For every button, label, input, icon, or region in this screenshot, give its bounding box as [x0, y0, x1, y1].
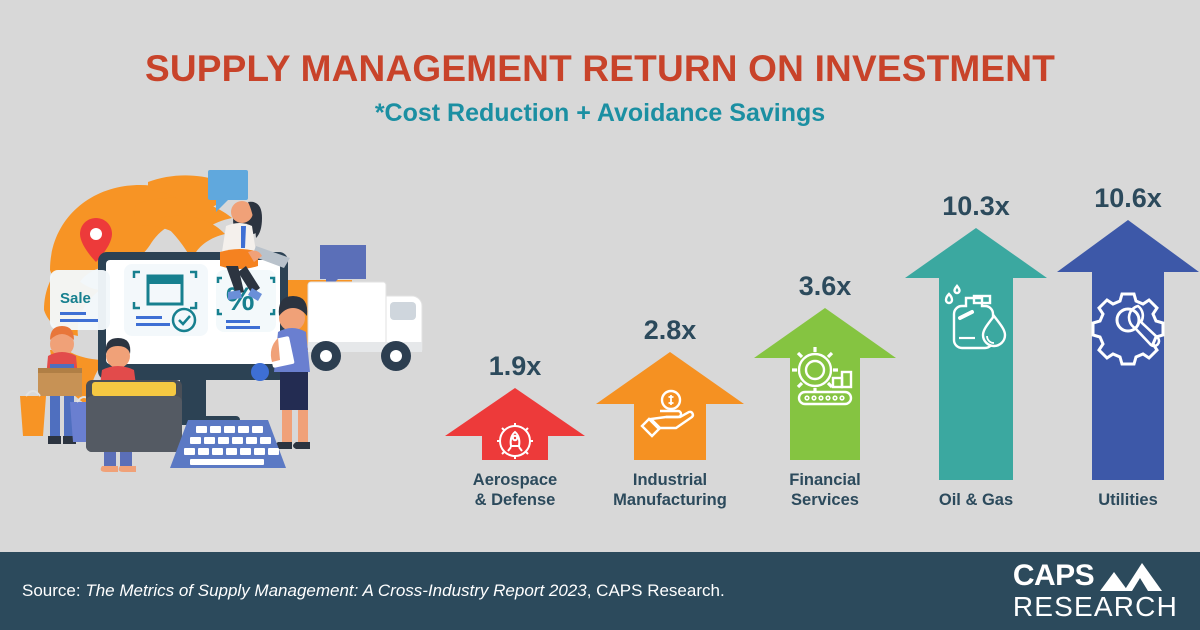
- arrow-3: [905, 228, 1047, 480]
- mountain-peaks-icon: [1100, 561, 1162, 591]
- chart-column-2: 3.6x: [750, 271, 900, 510]
- keyboard-icon: [170, 420, 286, 468]
- arrow-4: [1057, 220, 1199, 480]
- header: SUPPLY MANAGEMENT RETURN ON INVESTMENT *…: [0, 0, 1200, 128]
- value-label-4: 10.6x: [1094, 183, 1162, 214]
- arrow-0: [445, 388, 585, 460]
- chart-column-1: 2.8x Industrial Manufacturing: [590, 315, 750, 510]
- category-label-2: Financial Services: [789, 470, 861, 510]
- logo-research-text: RESEARCH: [1013, 593, 1178, 621]
- source-citation: Source: The Metrics of Supply Management…: [22, 581, 725, 601]
- ecommerce-supply-chain-illustration: Sale %: [20, 160, 470, 500]
- chart-column-3: 10.3x Oil & Gas: [900, 191, 1052, 510]
- value-label-0: 1.9x: [489, 351, 542, 382]
- category-label-4: Utilities: [1098, 490, 1158, 510]
- value-label-1: 2.8x: [644, 315, 697, 346]
- chart-column-4: 10.6x Utilities: [1052, 183, 1200, 510]
- page-subtitle: *Cost Reduction + Avoidance Savings: [0, 99, 1200, 128]
- category-label-1: Industrial Manufacturing: [613, 470, 727, 510]
- arrow-2: [754, 308, 896, 460]
- page-title: SUPPLY MANAGEMENT RETURN ON INVESTMENT: [0, 50, 1200, 89]
- value-label-3: 10.3x: [942, 191, 1010, 222]
- footer: Source: The Metrics of Supply Management…: [0, 552, 1200, 630]
- wallet-icon: [86, 380, 182, 452]
- shopping-bag: [20, 396, 46, 436]
- screen-card-sale: Sale: [50, 270, 110, 330]
- arrow-1: [596, 352, 744, 460]
- source-report-title: The Metrics of Supply Management: A Cros…: [85, 581, 586, 600]
- source-prefix: Source:: [22, 581, 85, 600]
- screen-card-product: [124, 264, 208, 336]
- caps-research-logo: CAPS RESEARCH: [1013, 561, 1178, 621]
- delivery-truck-icon: [308, 282, 422, 371]
- value-label-2: 3.6x: [799, 271, 852, 302]
- logo-caps-text: CAPS: [1013, 561, 1094, 591]
- category-label-3: Oil & Gas: [939, 490, 1013, 510]
- screen-card-sale-label: Sale: [60, 290, 91, 307]
- infographic-canvas: SUPPLY MANAGEMENT RETURN ON INVESTMENT *…: [0, 0, 1200, 630]
- chart-column-0: 1.9x Aerospace & Defense: [440, 351, 590, 510]
- decor-chat-square: [320, 245, 366, 279]
- roi-arrow-chart: 1.9x Aerospace & Defense 2.8x: [440, 140, 1185, 510]
- category-label-0: Aerospace & Defense: [473, 470, 557, 510]
- source-suffix: , CAPS Research.: [587, 581, 725, 600]
